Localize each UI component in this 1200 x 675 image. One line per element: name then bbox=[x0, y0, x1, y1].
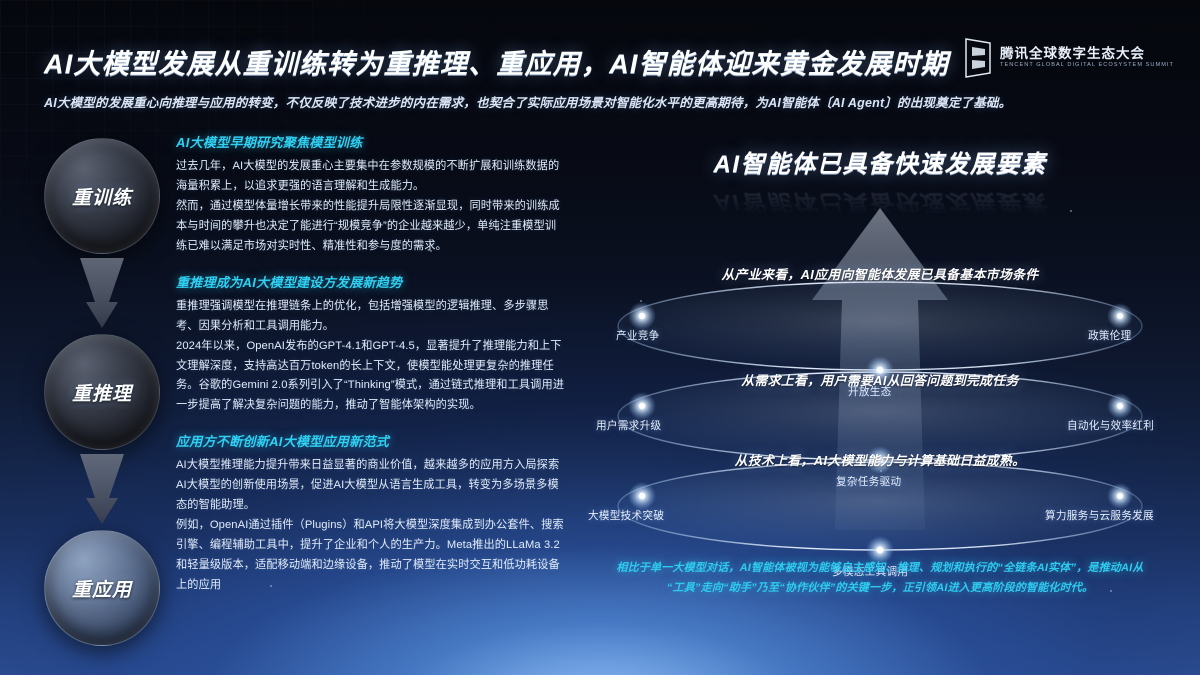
ring-node-label-open-ecosystem: 开放生态 bbox=[848, 384, 892, 399]
slide-canvas: AI大模型发展从重训练转为重推理、重应用，AI智能体迎来黄金发展时期 AI大模型… bbox=[0, 0, 1200, 675]
brand-logo: 腾讯全球数字生态大会 TENCENT GLOBAL DIGITAL ECOSYS… bbox=[965, 38, 1174, 78]
stage-flow-column: 重训练 重推理 重应用 bbox=[36, 138, 168, 648]
page-title: AI大模型发展从重训练转为重推理、重应用，AI智能体迎来黄金发展时期 bbox=[44, 42, 949, 81]
section-paragraph: 例如，OpenAI通过插件（Plugins）和API将大模型深度集成到办公套件、… bbox=[176, 516, 566, 596]
flow-stage-label: 重训练 bbox=[72, 183, 132, 210]
ring-node-label-automation-efficiency: 自动化与效率红利 bbox=[1067, 418, 1154, 433]
brand-name-en: TENCENT GLOBAL DIGITAL ECOSYSTEM SUMMIT bbox=[1000, 63, 1174, 69]
ring-node-label-model-breakthrough: 大模型技术突破 bbox=[588, 508, 664, 523]
ring-node-label-complex-task-drive: 复杂任务驱动 bbox=[836, 474, 901, 489]
ring-statement-industry: 从产业来看，AI应用向智能体发展已具备基本市场条件 bbox=[580, 264, 1180, 283]
section-paragraph: 重推理强调模型在推理链条上的优化，包括增强模型的逻辑推理、多步骤思考、因果分析和… bbox=[176, 297, 566, 337]
tencent-summit-logo-icon bbox=[965, 38, 991, 78]
flow-stage-reasoning[interactable]: 重推理 bbox=[44, 334, 160, 450]
flow-stage-application[interactable]: 重应用 bbox=[44, 530, 160, 646]
narrative-text-column: AI大模型早期研究聚焦模型训练 过去几年，AI大模型的发展重心主要集中在参数规模… bbox=[176, 132, 566, 611]
section-paragraph: 2024年以来，OpenAI发布的GPT-4.1和GPT-4.5，显著提升了推理… bbox=[176, 337, 566, 417]
section-reasoning: 重推理成为AI大模型建设方发展新趋势 重推理强调模型在推理链条上的优化，包括增强… bbox=[176, 272, 566, 417]
section-heading: 应用方不断创新AI大模型应用新范式 bbox=[176, 431, 566, 450]
brand-name-cn: 腾讯全球数字生态大会 bbox=[1000, 47, 1174, 61]
flow-stage-label: 重推理 bbox=[72, 379, 132, 406]
flow-stage-label: 重应用 bbox=[72, 575, 132, 602]
panel-conclusion: 相比于单一大模型对话，AI智能体被视为能够自主感知、推理、规划和执行的“全链条A… bbox=[608, 558, 1152, 599]
down-arrow-icon bbox=[76, 258, 128, 332]
down-arrow-icon bbox=[76, 454, 128, 528]
section-paragraph: 然而，通过模型体量增长带来的性能提升局限性逐渐显现，同时带来的训练成本与时间的攀… bbox=[176, 197, 566, 257]
section-heading: AI大模型早期研究聚焦模型训练 bbox=[176, 132, 566, 151]
section-training: AI大模型早期研究聚焦模型训练 过去几年，AI大模型的发展重心主要集中在参数规模… bbox=[176, 132, 566, 257]
ring-node-label-industry-competition: 产业竞争 bbox=[616, 328, 660, 343]
page-subtitle: AI大模型的发展重心向推理与应用的转变，不仅反映了技术进步的内在需求，也契合了实… bbox=[44, 92, 1154, 111]
agent-elements-panel: AI智能体已具备快速发展要素 AI智能体已具备快速发展要素 bbox=[580, 130, 1180, 650]
section-heading: 重推理成为AI大模型建设方发展新趋势 bbox=[176, 272, 566, 291]
ring-statement-technology: 从技术上看，AI大模型能力与计算基础日益成熟。 bbox=[580, 450, 1180, 469]
flow-stage-training[interactable]: 重训练 bbox=[44, 138, 160, 254]
section-paragraph: AI大模型推理能力提升带来日益显著的商业价值，越来越多的应用方入局探索AI大模型… bbox=[176, 456, 566, 516]
ring-node-label-policy-ethics: 政策伦理 bbox=[1088, 328, 1132, 343]
section-paragraph: 过去几年，AI大模型的发展重心主要集中在参数规模的不断扩展和训练数据的海量积累上… bbox=[176, 157, 566, 197]
slide-header: AI大模型发展从重训练转为重推理、重应用，AI智能体迎来黄金发展时期 AI大模型… bbox=[0, 0, 1200, 126]
ring-node-label-user-demand-upgrade: 用户需求升级 bbox=[596, 418, 661, 433]
section-application: 应用方不断创新AI大模型应用新范式 AI大模型推理能力提升带来日益显著的商业价值… bbox=[176, 431, 566, 596]
ring-node-label-compute-cloud-services: 算力服务与云服务发展 bbox=[1045, 508, 1154, 523]
brand-logo-text: 腾讯全球数字生态大会 TENCENT GLOBAL DIGITAL ECOSYS… bbox=[1000, 47, 1174, 69]
